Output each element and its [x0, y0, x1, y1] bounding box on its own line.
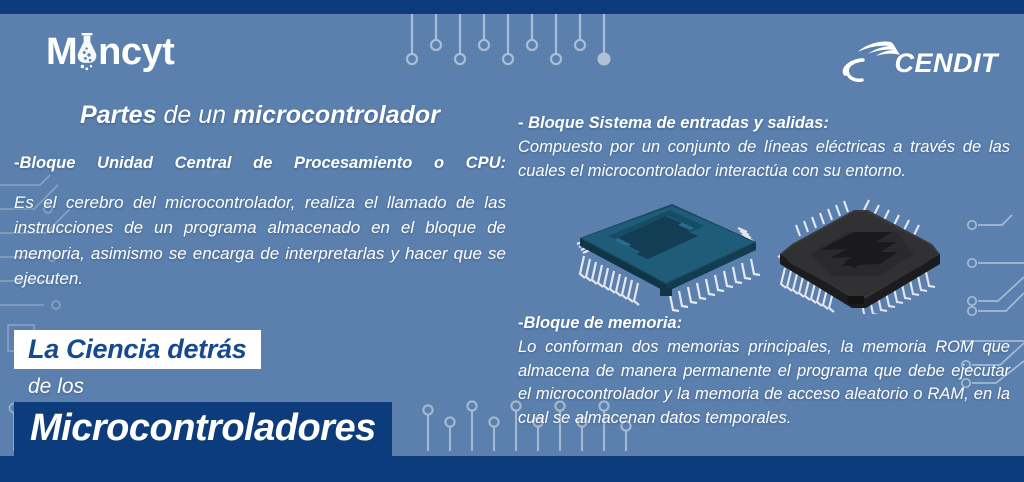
cendit-logo[interactable]: CENDIT: [839, 38, 999, 89]
memory-section-heading: -Bloque de memoria:: [518, 312, 1010, 334]
flask-icon: [74, 30, 100, 74]
series-title-line-1: La Ciencia detrás: [14, 330, 261, 369]
cendit-logo-text: CENDIT: [895, 48, 999, 79]
right-column-memory: -Bloque de memoria: Lo conforman dos mem…: [518, 312, 1010, 430]
microchip-illustrations: [548, 192, 1008, 314]
series-title-line-1-wrapper: La Ciencia detrás: [14, 330, 392, 369]
page-title: Partes de un microcontrolador: [14, 100, 506, 130]
right-column-io: - Bloque Sistema de entradas y salidas: …: [518, 112, 1010, 183]
top-navy-bar: [0, 0, 1024, 14]
mincyt-logo-text-before: M: [46, 33, 77, 71]
memory-section-body: Lo conforman dos memorias principales, l…: [518, 336, 1010, 430]
circuit-traces-top: [400, 14, 620, 99]
microchip-dark: [778, 200, 940, 314]
mincyt-logo-text-after: ncyt: [98, 33, 174, 71]
infographic-poster: M ncyt: [0, 0, 1024, 482]
io-section-body: Compuesto por un conjunto de líneas eléc…: [518, 136, 1010, 183]
io-section-heading: - Bloque Sistema de entradas y salidas:: [518, 112, 1010, 134]
page-title-part-3: microcontrolador: [233, 101, 440, 129]
series-title-block: La Ciencia detrás de los Microcontrolado…: [14, 330, 392, 457]
left-column: Partes de un microcontrolador -Bloque Un…: [14, 100, 506, 291]
series-title-line-3: Microcontroladores: [14, 402, 392, 457]
mincyt-logo[interactable]: M ncyt: [46, 30, 174, 74]
series-title-line-2: de los: [14, 369, 392, 402]
series-title-line-3-wrapper: Microcontroladores: [14, 402, 392, 457]
bottom-navy-bar: [0, 456, 1024, 482]
cpu-section-body: Es el cerebro del microcontrolador, real…: [14, 190, 506, 291]
cpu-section-heading: -Bloque Unidad Central de Procesamiento …: [14, 152, 506, 174]
page-title-part-1: Partes: [80, 101, 156, 129]
page-title-part-2: de un: [157, 101, 233, 129]
microchip-teal: [577, 204, 760, 311]
swoosh-icon: [839, 38, 901, 89]
